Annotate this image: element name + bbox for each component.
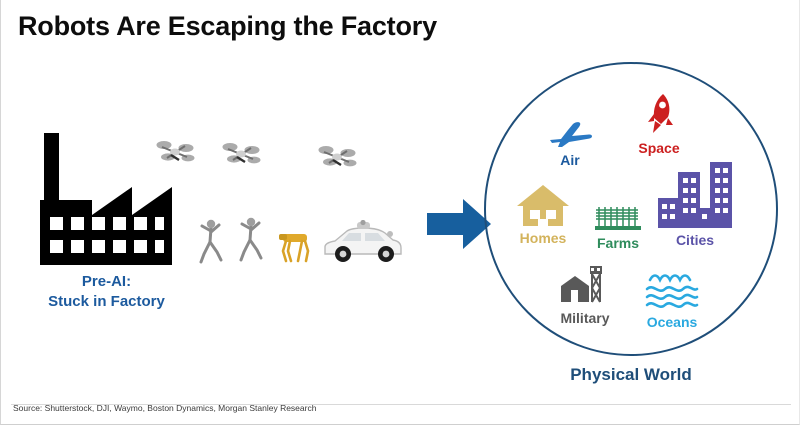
autonomous-car-icon bbox=[321, 220, 405, 266]
right-arrow-icon bbox=[427, 191, 493, 257]
physical-world-label: Physical World bbox=[521, 365, 741, 385]
domain-label-air: Air bbox=[524, 153, 616, 168]
domain-label-oceans: Oceans bbox=[626, 315, 718, 330]
domain-item-military[interactable]: Military bbox=[539, 258, 631, 326]
domain-item-air[interactable]: Air bbox=[524, 100, 616, 168]
buildings-icon bbox=[649, 158, 741, 230]
slide-canvas: Robots Are Escaping the Factory bbox=[0, 0, 800, 425]
humanoid-robot-icon bbox=[237, 216, 265, 262]
drone-icon bbox=[219, 139, 265, 169]
page-title: Robots Are Escaping the Factory bbox=[18, 11, 437, 42]
humanoid-robot-icon bbox=[197, 218, 225, 264]
domain-item-oceans[interactable]: Oceans bbox=[626, 262, 718, 330]
airplane-icon bbox=[524, 100, 616, 150]
drone-icon bbox=[153, 137, 199, 167]
waves-icon bbox=[626, 262, 718, 312]
domain-item-cities[interactable]: Cities bbox=[649, 158, 741, 248]
source-note: Source: Shutterstock, DJI, Waymo, Boston… bbox=[13, 403, 316, 413]
domain-label-military: Military bbox=[539, 311, 631, 326]
robot-dog-icon bbox=[275, 228, 317, 264]
drone-icon bbox=[315, 142, 361, 172]
domain-label-cities: Cities bbox=[649, 233, 741, 248]
rocket-icon bbox=[613, 88, 705, 138]
factory-caption-line-2: Stuck in Factory bbox=[19, 292, 194, 312]
military-base-icon bbox=[539, 258, 631, 308]
domain-label-space: Space bbox=[613, 141, 705, 156]
factory-caption-line-1: Pre-AI: bbox=[19, 272, 194, 292]
domain-item-space[interactable]: Space bbox=[613, 88, 705, 156]
factory-caption: Pre-AI: Stuck in Factory bbox=[19, 272, 194, 312]
